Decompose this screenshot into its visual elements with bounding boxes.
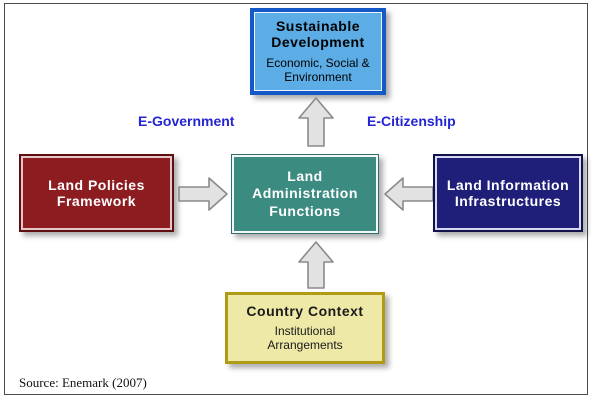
- arrow-left-icon: [383, 176, 435, 212]
- arrow-up-icon: [297, 96, 335, 148]
- node-sustainable-development: Sustainable Development Economic, Social…: [250, 8, 386, 95]
- node-title-line-1: Land Policies: [48, 177, 145, 193]
- node-title: Land Information Infrastructures: [447, 177, 569, 209]
- node-subtitle-line-2: Environment: [284, 70, 351, 84]
- figure-frame: Sustainable Development Economic, Social…: [4, 3, 588, 395]
- flow-label-e-government: E-Government: [138, 113, 234, 129]
- node-inner-border: Land Administration Functions: [232, 155, 378, 233]
- node-inner-border: Land Policies Framework: [21, 156, 172, 230]
- node-inner-border: Land Information Infrastructures: [435, 156, 581, 230]
- node-title: Country Context: [246, 303, 363, 319]
- node-title-line-2: Development: [271, 34, 364, 50]
- node-land-policies-framework: Land Policies Framework: [19, 154, 174, 232]
- node-title-line-2: Framework: [57, 193, 136, 209]
- node-title: Sustainable Development: [271, 18, 364, 50]
- arrow-up-icon: [297, 240, 335, 290]
- node-subtitle: Economic, Social & Environment: [266, 57, 369, 85]
- node-subtitle-line-2: Arrangements: [267, 338, 342, 352]
- flow-label-e-citizenship: E-Citizenship: [367, 113, 456, 129]
- node-inner-border: Country Context Institutional Arrangemen…: [228, 295, 382, 361]
- node-title: Land Administration Functions: [252, 168, 358, 221]
- source-caption: Source: Enemark (2007): [19, 375, 147, 391]
- arrow-right-icon: [177, 176, 229, 212]
- node-title-line-1: Land: [287, 168, 322, 184]
- node-country-context: Country Context Institutional Arrangemen…: [225, 292, 385, 364]
- node-subtitle: Institutional Arrangements: [267, 325, 342, 353]
- node-land-administration-functions: Land Administration Functions: [231, 154, 379, 234]
- node-title-line-3: Functions: [269, 203, 340, 219]
- node-title-line-1: Sustainable: [276, 18, 360, 34]
- node-title-line-2: Administration: [252, 185, 358, 201]
- node-inner-border: Sustainable Development Economic, Social…: [254, 12, 382, 91]
- node-title-line-1: Land Information: [447, 177, 569, 193]
- node-subtitle-line-1: Economic, Social &: [266, 56, 369, 70]
- node-title-line-2: Infrastructures: [455, 193, 561, 209]
- node-subtitle-line-1: Institutional: [275, 324, 336, 338]
- node-title: Land Policies Framework: [48, 177, 145, 209]
- node-land-information-infrastructures: Land Information Infrastructures: [433, 154, 583, 232]
